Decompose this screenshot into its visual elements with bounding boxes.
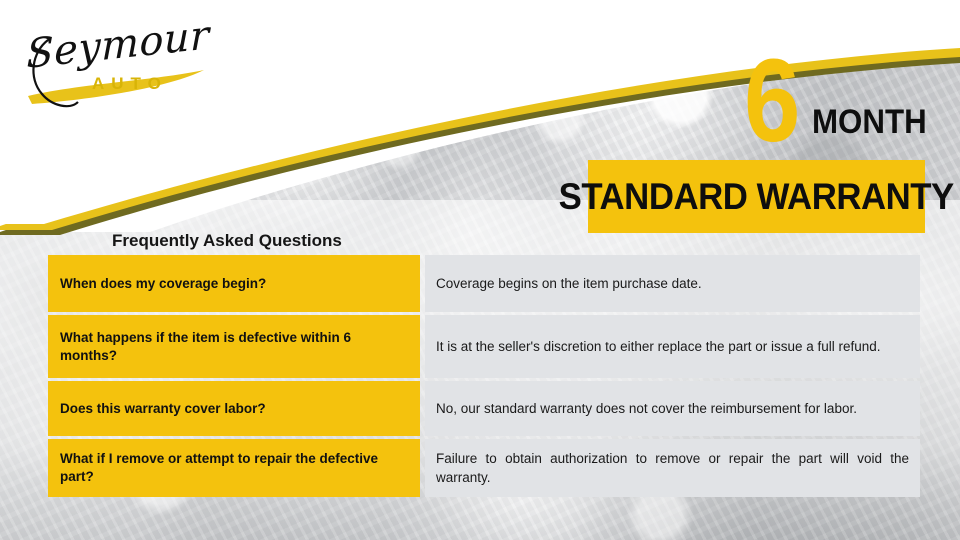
- faq-answer-text: It is at the seller's discretion to eith…: [436, 337, 909, 356]
- warranty-slide: Seymour AUTO 6 MONTH STANDARD WARRANTY F…: [0, 0, 960, 540]
- faq-row: Does this warranty cover labor? No, our …: [48, 381, 920, 436]
- faq-answer-text: Failure to obtain authorization to remov…: [436, 449, 909, 487]
- logo-sub-wordmark: AUTO: [92, 74, 168, 94]
- faq-answer-cell: It is at the seller's discretion to eith…: [425, 315, 920, 378]
- warranty-duration-unit: MONTH: [812, 105, 927, 139]
- faq-row: What if I remove or attempt to repair th…: [48, 439, 920, 497]
- faq-question-cell: What if I remove or attempt to repair th…: [48, 439, 420, 497]
- faq-question-text: What happens if the item is defective wi…: [60, 329, 408, 365]
- faq-answer-text: Coverage begins on the item purchase dat…: [436, 274, 909, 293]
- faq-answer-text: No, our standard warranty does not cover…: [436, 399, 909, 418]
- standard-warranty-label: STANDARD WARRANTY: [559, 178, 954, 215]
- faq-question-cell: Does this warranty cover labor?: [48, 381, 420, 436]
- standard-warranty-banner: STANDARD WARRANTY: [588, 160, 925, 233]
- faq-answer-cell: No, our standard warranty does not cover…: [425, 381, 920, 436]
- faq-table: When does my coverage begin? Coverage be…: [48, 255, 920, 497]
- faq-question-cell: When does my coverage begin?: [48, 255, 420, 312]
- faq-question-text: Does this warranty cover labor?: [60, 400, 266, 418]
- faq-row: When does my coverage begin? Coverage be…: [48, 255, 920, 312]
- faq-heading: Frequently Asked Questions: [112, 231, 342, 251]
- seymour-auto-logo: Seymour AUTO: [18, 18, 238, 113]
- faq-row: What happens if the item is defective wi…: [48, 315, 920, 378]
- faq-question-text: When does my coverage begin?: [60, 275, 266, 293]
- faq-question-cell: What happens if the item is defective wi…: [48, 315, 420, 378]
- faq-answer-cell: Failure to obtain authorization to remov…: [425, 439, 920, 497]
- faq-answer-cell: Coverage begins on the item purchase dat…: [425, 255, 920, 312]
- warranty-duration-number: 6: [744, 42, 799, 160]
- faq-question-text: What if I remove or attempt to repair th…: [60, 450, 408, 486]
